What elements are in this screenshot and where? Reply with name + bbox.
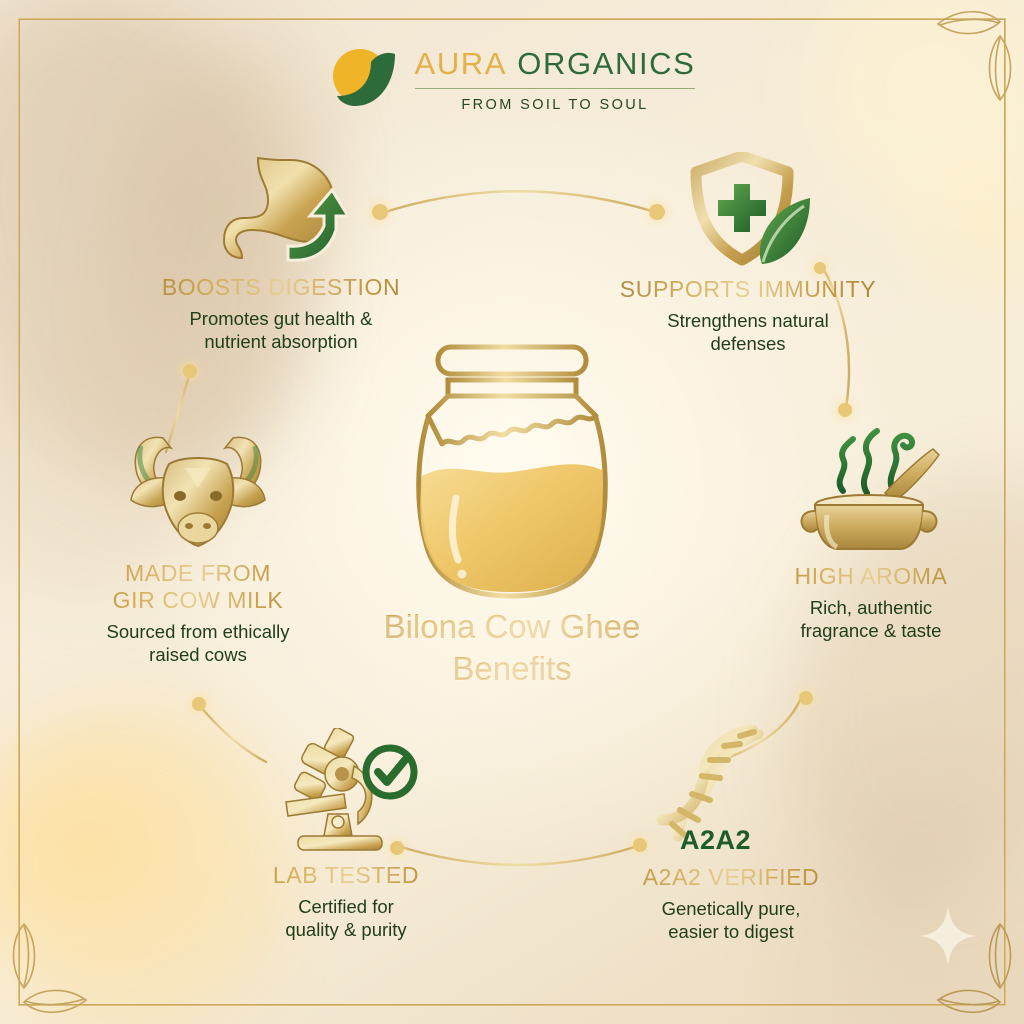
desc-line2: raised cows xyxy=(149,644,247,665)
leaf-corner-ornament-icon xyxy=(4,902,124,1022)
brand-header: AURA ORGANICS FROM SOIL TO SOUL xyxy=(0,42,1024,113)
heading-line1: MADE FROM xyxy=(125,560,271,586)
desc-line2: easier to digest xyxy=(668,921,793,942)
desc-line1: Rich, authentic xyxy=(810,597,932,618)
desc-line1: Sourced from ethically xyxy=(106,621,289,642)
infographic-poster: AURA ORGANICS FROM SOIL TO SOUL xyxy=(0,0,1024,1024)
benefit-description: Strengthens natural defenses xyxy=(588,309,908,356)
desc-line1: Promotes gut health & xyxy=(189,308,372,329)
leaf-sun-logo-icon xyxy=(329,40,401,112)
benefit-made-from-gir-cow-milk: MADE FROM GIR COW MILK Sourced from ethi… xyxy=(48,412,348,667)
benefit-description: Sourced from ethically raised cows xyxy=(48,620,348,667)
benefit-description: Genetically pure, easier to digest xyxy=(588,897,874,944)
brand-divider xyxy=(415,88,696,89)
a2a2-badge-label: A2A2 xyxy=(680,825,751,856)
benefit-heading: HIGH AROMA xyxy=(740,563,1002,590)
desc-line2: defenses xyxy=(710,333,785,354)
shield-leaf-icon xyxy=(684,152,812,268)
brand-name-primary: AURA xyxy=(415,46,508,81)
benefit-heading: SUPPORTS IMMUNITY xyxy=(588,276,908,303)
benefit-boosts-digestion: BOOSTS DIGESTION Promotes gut health & n… xyxy=(120,150,442,354)
desc-line1: Certified for xyxy=(298,896,394,917)
desc-line2: quality & purity xyxy=(285,919,406,940)
desc-line2: nutrient absorption xyxy=(204,331,357,352)
benefit-heading: MADE FROM GIR COW MILK xyxy=(48,560,348,614)
brand-name-secondary: ORGANICS xyxy=(517,46,695,81)
brand-name: AURA ORGANICS xyxy=(415,48,696,79)
benefit-high-aroma: HIGH AROMA Rich, authentic fragrance & t… xyxy=(740,415,1002,643)
desc-line1: Genetically pure, xyxy=(662,898,801,919)
benefit-description: Promotes gut health & nutrient absorptio… xyxy=(120,307,442,354)
benefit-a2a2-verified: A2A2 A2A2 VERIFIED Genetically pure, eas… xyxy=(588,722,874,944)
sparkle-star-icon xyxy=(920,906,976,966)
benefit-heading: BOOSTS DIGESTION xyxy=(120,274,442,301)
benefit-description: Rich, authentic fragrance & taste xyxy=(740,596,1002,643)
cow-head-icon xyxy=(123,416,273,552)
microscope-check-icon xyxy=(272,728,420,854)
benefit-lab-tested: LAB TESTED Certified for quality & purit… xyxy=(210,726,482,942)
benefit-heading: A2A2 VERIFIED xyxy=(588,864,874,891)
benefit-heading: LAB TESTED xyxy=(210,862,482,889)
benefit-description: Certified for quality & purity xyxy=(210,895,482,942)
desc-line1: Strengthens natural xyxy=(667,310,828,331)
leaf-corner-ornament-icon xyxy=(900,902,1020,1022)
benefit-supports-immunity: SUPPORTS IMMUNITY Strengthens natural de… xyxy=(588,152,908,356)
heading-line2: GIR COW MILK xyxy=(113,587,284,613)
desc-line2: fragrance & taste xyxy=(801,620,942,641)
brand-tagline: FROM SOIL TO SOUL xyxy=(415,97,696,113)
ghee-jar-icon xyxy=(412,338,612,606)
stomach-arrow-icon xyxy=(214,150,348,266)
cooking-pot-steam-icon xyxy=(797,419,945,555)
